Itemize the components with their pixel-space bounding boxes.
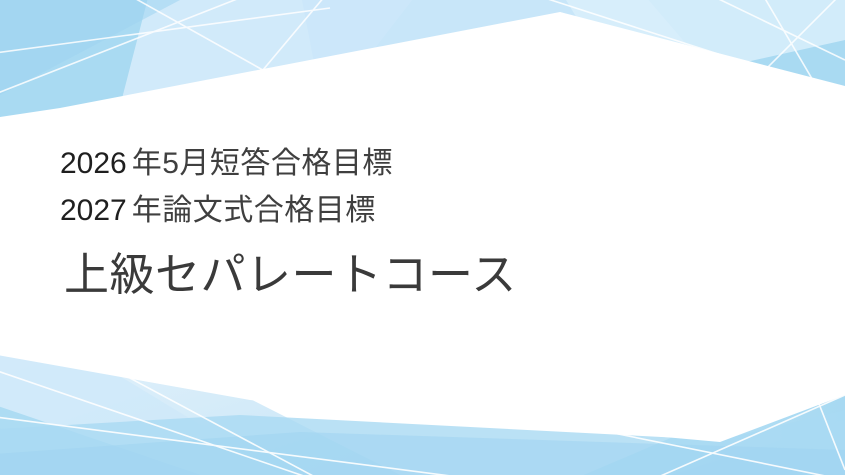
subtitle-line-2-text: 年論文式合格目標: [132, 194, 376, 227]
subtitle-line-2-year: 2027: [60, 194, 132, 227]
subtitle-line-1-text: 年5月短答合格目標: [132, 147, 393, 180]
slide-canvas: 2026年5月短答合格目標 2027年論文式合格目標 上級セパレートコース: [0, 0, 845, 475]
subtitle-line-2: 2027年論文式合格目標: [60, 187, 393, 234]
subtitle-line-1-year: 2026: [60, 147, 132, 180]
subtitle-line-1: 2026年5月短答合格目標: [60, 140, 393, 187]
slide-content: 2026年5月短答合格目標 2027年論文式合格目標 上級セパレートコース: [0, 0, 845, 475]
subtitle-block: 2026年5月短答合格目標 2027年論文式合格目標: [60, 140, 393, 234]
page-title: 上級セパレートコース: [64, 247, 517, 303]
